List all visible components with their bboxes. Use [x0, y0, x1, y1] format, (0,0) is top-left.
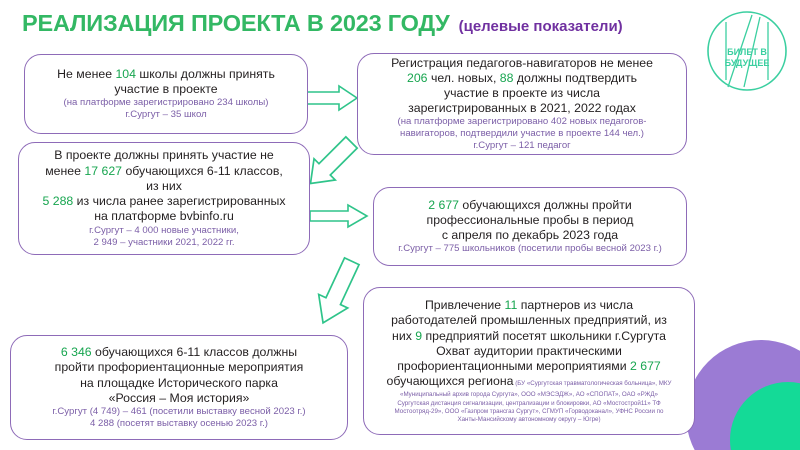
card-schools: Не менее 104 школы должны принять участи… — [24, 54, 308, 134]
arrow-schools-to-teachers — [303, 84, 359, 112]
card-park-line-3: на площадке Исторического парка — [19, 376, 339, 391]
logo-line-2: БУДУЩЕЕ — [725, 58, 770, 68]
card-students-line-5: на платформе bvbinfo.ru — [27, 209, 301, 224]
card-park-line-1: 6 346 обучающихся 6-11 классов должны — [19, 345, 339, 360]
metric-coverage-count: 2 677 — [630, 359, 661, 373]
card-teachers-line-1: Регистрация педагогов-навигаторов не мен… — [366, 56, 678, 71]
metric-teachers-new: 206 — [407, 71, 428, 85]
card-students-line-3: из них — [27, 179, 301, 194]
metric-partners-count: 11 — [505, 298, 518, 312]
card-teachers-note-3: г.Сургут – 121 педагог — [366, 140, 678, 152]
metric-students-registered: 5 288 — [42, 194, 73, 208]
card-partners-line-5: профориентационными мероприятиями 2 677 — [372, 359, 686, 374]
card-probes-line-1: 2 677 обучающихся должны пройти — [382, 198, 678, 213]
page-title: РЕАЛИЗАЦИЯ ПРОЕКТА В 2023 ГОДУ — [22, 10, 450, 37]
card-schools-line-1: Не менее 104 школы должны принять — [33, 67, 299, 82]
card-teachers-line-2: 206 чел. новых, 88 должны подтвердить — [366, 71, 678, 86]
card-park-line-2: пройти профориентационные мероприятия — [19, 360, 339, 375]
card-students-line-2: менее 17 627 обучающихся 6-11 классов, — [27, 164, 301, 179]
card-partners-line-4: Охват аудитории практическими — [372, 344, 686, 359]
card-schools-line-2: участие в проекте — [33, 82, 299, 97]
card-students-line-1: В проекте должны принять участие не — [27, 148, 301, 163]
brand-logo: БИЛЕТ В БУДУЩЕЕ — [704, 8, 790, 94]
card-partners-line-3: них 9 предприятий посетят школьники г.Су… — [372, 329, 686, 344]
card-schools-note-1: (на платформе зарегистрировано 234 школы… — [33, 97, 299, 109]
card-teachers: Регистрация педагогов-навигаторов не мен… — [357, 53, 687, 155]
card-teachers-note-2: навигаторов, подтвердили участие в проек… — [366, 128, 678, 140]
page-subtitle: (целевые показатели) — [459, 18, 623, 35]
card-partners-line-2: работодателей промышленных предприятий, … — [372, 313, 686, 328]
card-park-line-4: «Россия – Моя история» — [19, 391, 339, 406]
card-professional-probes: 2 677 обучающихся должны пройти професси… — [373, 187, 687, 266]
card-schools-note-2: г.Сургут – 35 школ — [33, 109, 299, 121]
card-partners-line-1: Привлечение 11 партнеров из числа — [372, 298, 686, 313]
arrow-students-to-probes — [310, 202, 370, 230]
logo-line-1: БИЛЕТ В — [727, 47, 767, 57]
card-probes-line-3: с апреля по декабрь 2023 года — [382, 228, 678, 243]
card-partners-note-4: Ханты-Мансийскому автономному округу – Ю… — [372, 416, 686, 424]
metric-students-total: 17 627 — [84, 164, 122, 178]
card-teachers-line-3: участие в проекте из числа — [366, 86, 678, 101]
metric-teachers-confirm: 88 — [500, 71, 514, 85]
metric-park-target: 6 346 — [61, 345, 92, 359]
page-header: РЕАЛИЗАЦИЯ ПРОЕКТА В 2023 ГОДУ (целевые … — [22, 10, 623, 37]
card-teachers-note-1: (на платформе зарегистрировано 402 новых… — [366, 116, 678, 128]
card-partners-line-6: обучающихся региона (БУ «Сургутская трав… — [372, 374, 686, 391]
card-partners-note-1: «Муниципальный архив города Сургута», ОО… — [372, 391, 686, 399]
card-park-note-2: 4 288 (посетят выставку осенью 2023 г.) — [19, 418, 339, 430]
card-students: В проекте должны принять участие не мене… — [18, 142, 310, 255]
card-students-line-4: 5 288 из числа ранее зарегистрированных — [27, 194, 301, 209]
metric-probes-target: 2 677 — [428, 198, 459, 212]
card-probes-note-1: г.Сургут – 775 школьников (посетили проб… — [382, 243, 678, 255]
card-history-park: 6 346 обучающихся 6-11 классов должны пр… — [10, 335, 348, 440]
card-partners-note-2: Сургутская дистанция сигнализации, центр… — [372, 400, 686, 408]
card-teachers-line-4: зарегистрированных в 2021, 2022 годах — [366, 101, 678, 116]
card-students-note-1: г.Сургут – 4 000 новые участники, — [27, 225, 301, 237]
slide-canvas: РЕАЛИЗАЦИЯ ПРОЕКТА В 2023 ГОДУ (целевые … — [0, 0, 800, 450]
card-partners-note-3: Мостоотряд-29», ООО «Газпром трансгаз Су… — [372, 408, 686, 416]
card-partners-note-lead: (БУ «Сургутская травматологическая больн… — [513, 380, 671, 387]
card-students-note-2: 2 949 – участники 2021, 2022 гг. — [27, 237, 301, 249]
card-park-note-1: г.Сургут (4 749) – 461 (посетили выставк… — [19, 406, 339, 418]
metric-schools-target: 104 — [115, 67, 136, 81]
card-partners: Привлечение 11 партнеров из числа работо… — [363, 287, 695, 435]
card-probes-line-2: профессиональные пробы в период — [382, 213, 678, 228]
